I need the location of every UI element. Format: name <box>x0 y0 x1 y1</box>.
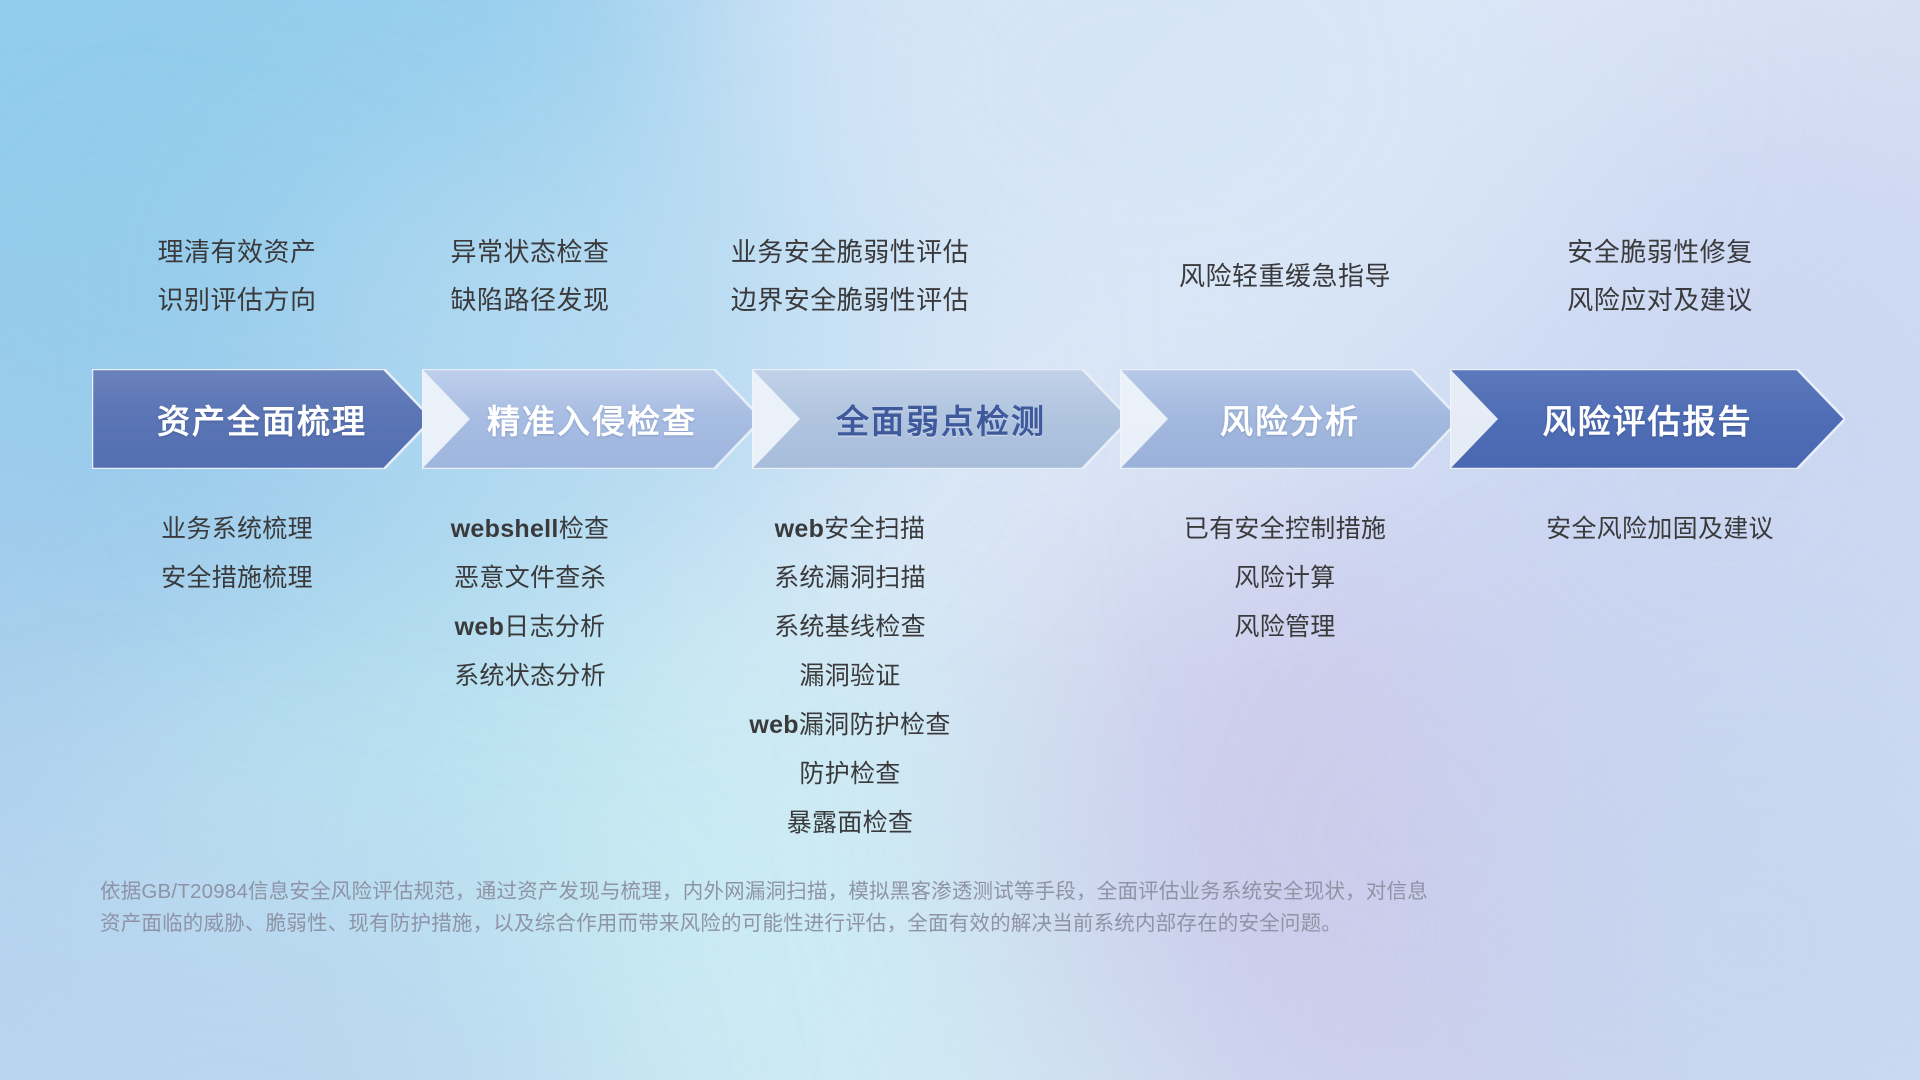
detail-item: web漏洞防护检查 <box>670 701 1030 750</box>
detail-item-prefix: web <box>749 711 799 739</box>
detail-item: 安全措施梳理 <box>92 554 382 603</box>
detail-item: 漏洞验证 <box>670 652 1030 701</box>
detail-item-text: 检查 <box>559 515 610 543</box>
stage-label: 全面弱点检测 <box>836 395 1046 443</box>
top-labels-asset-inventory: 理清有效资产 识别评估方向 <box>92 228 382 324</box>
detail-item-prefix: webshell <box>451 515 559 543</box>
top-label: 风险应对及建议 <box>1500 276 1820 324</box>
detail-item: 已有安全控制措施 <box>1125 505 1445 554</box>
detail-item-text: 安全措施梳理 <box>161 564 313 592</box>
detail-item: 风险管理 <box>1125 603 1445 652</box>
footer-line: 资产面临的威胁、脆弱性、现有防护措施，以及综合作用而带来风险的可能性进行评估，全… <box>100 908 1620 940</box>
detail-item: 风险计算 <box>1125 554 1445 603</box>
detail-column-intrusion-check: webshell检查 恶意文件查杀 web日志分析 系统状态分析 <box>385 505 675 701</box>
stage-label: 资产全面梳理 <box>157 395 367 443</box>
detail-item-text: 系统基线检查 <box>774 613 926 641</box>
detail-item: webshell检查 <box>385 505 675 554</box>
detail-item-text: 风险计算 <box>1234 564 1335 592</box>
detail-item-text: 漏洞防护检查 <box>799 711 951 739</box>
detail-item: web日志分析 <box>385 603 675 652</box>
stage-chevron-risk-analysis[interactable]: 风险分析 <box>1120 369 1460 469</box>
stage-chevron-asset-inventory[interactable]: 资产全面梳理 <box>92 369 432 469</box>
stage-chevron-weakness-detection[interactable]: 全面弱点检测 <box>752 369 1130 469</box>
detail-item-text: 已有安全控制措施 <box>1184 515 1386 543</box>
stage-label: 精准入侵检查 <box>487 395 697 443</box>
top-label: 识别评估方向 <box>92 276 382 324</box>
stage-chevron-banner: 资产全面梳理 精准入侵检查 <box>92 369 1845 469</box>
detail-item-text: 恶意文件查杀 <box>454 564 606 592</box>
top-labels-risk-report: 安全脆弱性修复 风险应对及建议 <box>1500 228 1820 324</box>
top-labels-intrusion-check: 异常状态检查 缺陷路径发现 <box>385 228 675 324</box>
detail-item: 系统状态分析 <box>385 652 675 701</box>
top-label: 理清有效资产 <box>92 228 382 276</box>
top-label: 业务安全脆弱性评估 <box>670 228 1030 276</box>
detail-column-asset-inventory: 业务系统梳理 安全措施梳理 <box>92 505 382 603</box>
top-label-row: 理清有效资产 识别评估方向 异常状态检查 缺陷路径发现 业务安全脆弱性评估 边界… <box>0 228 1920 338</box>
detail-item-text: 系统漏洞扫描 <box>774 564 926 592</box>
top-label: 安全脆弱性修复 <box>1500 228 1820 276</box>
detail-column-weakness-detection: web安全扫描 系统漏洞扫描 系统基线检查 漏洞验证 web漏洞防护检查 防护检… <box>670 505 1030 848</box>
top-label: 异常状态检查 <box>385 228 675 276</box>
detail-item-text: 业务系统梳理 <box>161 515 313 543</box>
stage-label: 风险评估报告 <box>1543 395 1753 443</box>
detail-item: 恶意文件查杀 <box>385 554 675 603</box>
detail-item-prefix: web <box>775 515 825 543</box>
detail-item: web安全扫描 <box>670 505 1030 554</box>
detail-item: 系统漏洞扫描 <box>670 554 1030 603</box>
detail-item-text: 日志分析 <box>504 613 605 641</box>
detail-item: 暴露面检查 <box>670 799 1030 848</box>
stage-chevron-intrusion-check[interactable]: 精准入侵检查 <box>422 369 762 469</box>
detail-item-text: 防护检查 <box>799 760 900 788</box>
detail-item: 安全风险加固及建议 <box>1500 505 1820 554</box>
detail-item-prefix: web <box>455 613 505 641</box>
top-label: 风险轻重缓急指导 <box>1125 252 1445 300</box>
top-labels-risk-analysis: 风险轻重缓急指导 <box>1125 252 1445 300</box>
top-label: 缺陷路径发现 <box>385 276 675 324</box>
detail-item: 业务系统梳理 <box>92 505 382 554</box>
detail-column-risk-report: 安全风险加固及建议 <box>1500 505 1820 554</box>
stage-chevron-risk-report[interactable]: 风险评估报告 <box>1450 369 1845 469</box>
detail-item: 系统基线检查 <box>670 603 1030 652</box>
detail-item-text: 漏洞验证 <box>799 662 900 690</box>
footer-line: 依据GB/T20984信息安全风险评估规范，通过资产发现与梳理，内外网漏洞扫描，… <box>100 876 1620 908</box>
detail-item-text: 系统状态分析 <box>454 662 606 690</box>
detail-item-text: 安全风险加固及建议 <box>1546 515 1774 543</box>
footer-description: 依据GB/T20984信息安全风险评估规范，通过资产发现与梳理，内外网漏洞扫描，… <box>100 876 1620 940</box>
detail-item: 防护检查 <box>670 750 1030 799</box>
detail-column-risk-analysis: 已有安全控制措施 风险计算 风险管理 <box>1125 505 1445 652</box>
process-flow-diagram: 理清有效资产 识别评估方向 异常状态检查 缺陷路径发现 业务安全脆弱性评估 边界… <box>0 0 1920 1080</box>
detail-item-text: 暴露面检查 <box>787 809 914 837</box>
detail-item-text: 风险管理 <box>1234 613 1335 641</box>
detail-item-text: 安全扫描 <box>824 515 925 543</box>
top-label: 边界安全脆弱性评估 <box>670 276 1030 324</box>
stage-label: 风险分析 <box>1220 395 1360 443</box>
top-labels-weakness-detection: 业务安全脆弱性评估 边界安全脆弱性评估 <box>670 228 1030 324</box>
